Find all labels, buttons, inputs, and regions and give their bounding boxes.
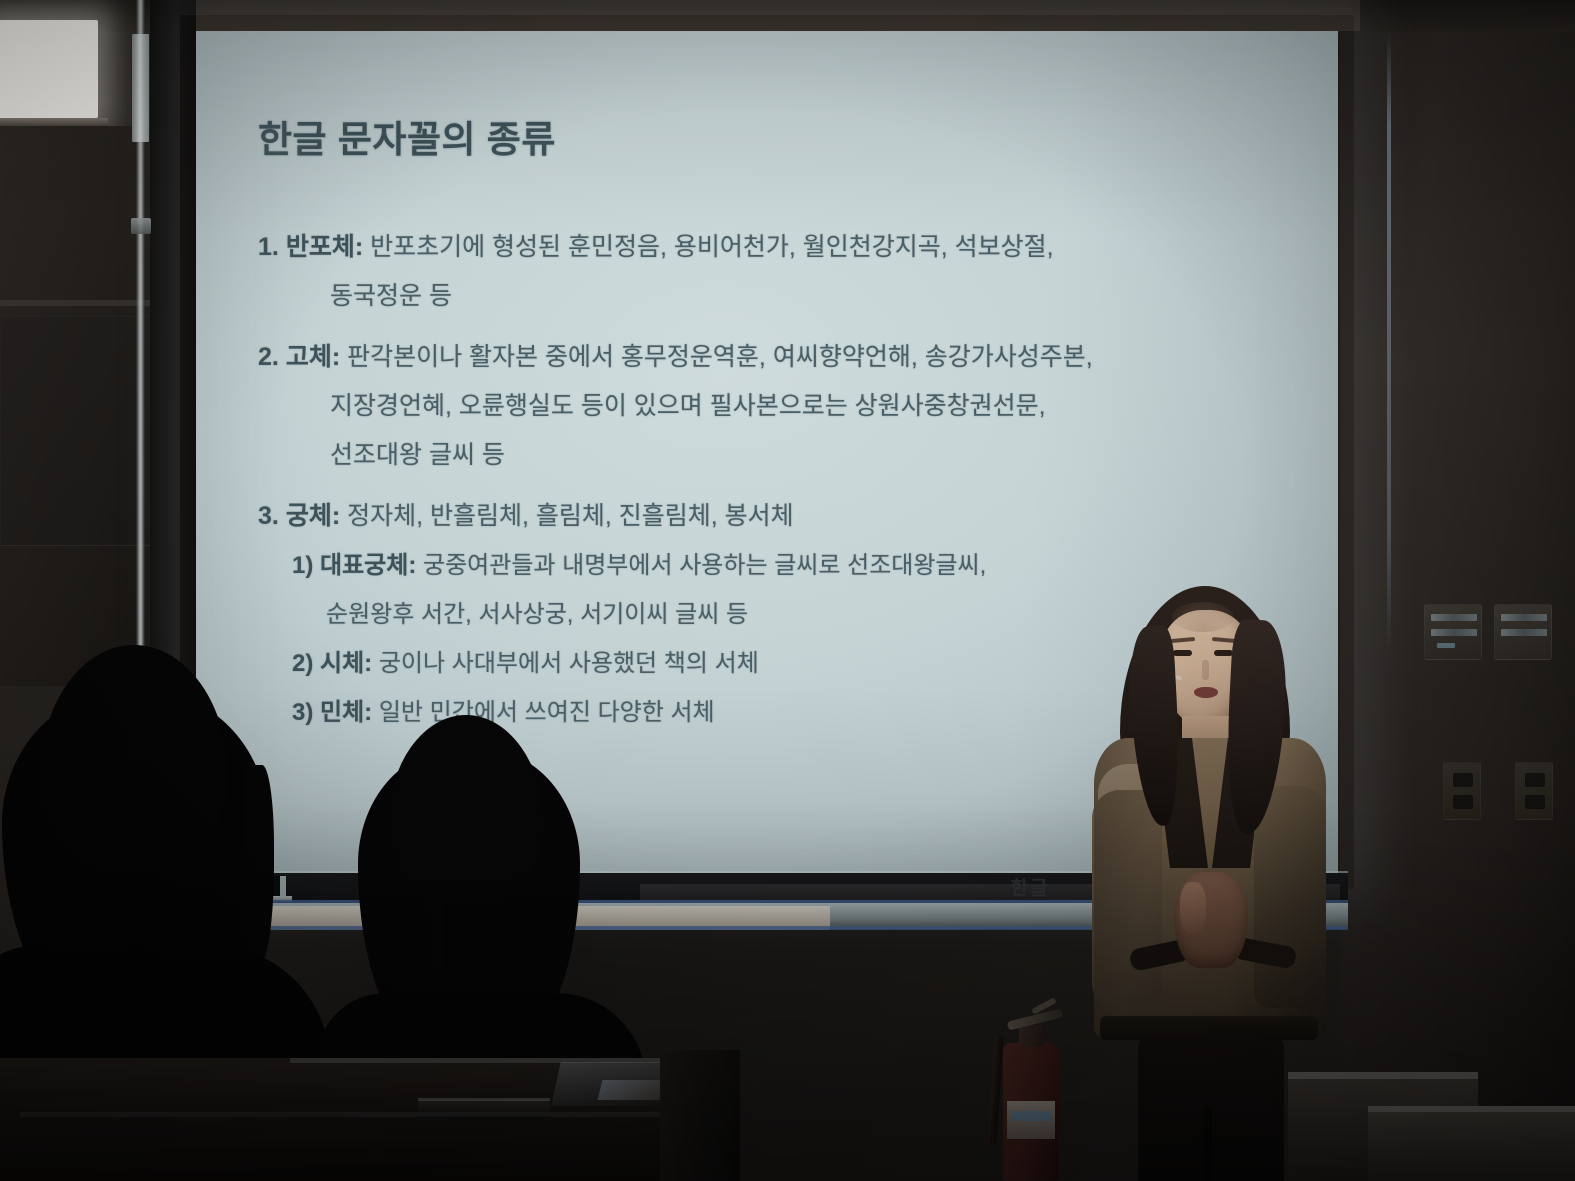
switch-indicator-1 xyxy=(1437,643,1455,648)
light-switch-plate-1[interactable] xyxy=(1424,604,1482,660)
wall-outlet-1[interactable] xyxy=(1443,762,1481,820)
slide-subitem-1-term: 대표궁체: xyxy=(320,552,416,579)
slide-subitem-1-text-1: 궁중여관들과 내명부에서 사용하는 글씨로 선조대왕글씨, xyxy=(423,552,986,579)
slide-item-2-term: 고체: xyxy=(286,343,340,371)
slide-item-1-line-2: 동국정운 등 xyxy=(258,272,1338,321)
desk-object-highlight xyxy=(418,1098,550,1101)
slide-title: 한글 문자꼴의 종류 xyxy=(258,109,1338,163)
switch-rocker-2[interactable] xyxy=(1431,629,1477,636)
slide-item-2-number: 2. xyxy=(258,343,279,371)
window-sill xyxy=(0,118,108,126)
slide-item-1-line-1: 1. 반포체: 반포초기에 형성된 훈민정음, 용비어천가, 월인천강지곡, 석… xyxy=(258,223,1338,272)
spacer-2 xyxy=(258,482,1338,492)
audience-1-head xyxy=(40,645,228,871)
presenter-mouth xyxy=(1194,687,1218,698)
audience-2-hair-strand xyxy=(426,807,442,1017)
slide-subitem-1-number: 1) xyxy=(292,552,313,579)
spacer-1 xyxy=(258,323,1338,333)
outlet-socket-2 xyxy=(1453,795,1473,809)
vertical-pole-top-segment xyxy=(132,34,149,142)
ceiling-soffit-inner xyxy=(180,0,1360,31)
presenter-eye-left xyxy=(1173,650,1192,656)
slide-item-2-line-3: 선조대왕 글씨 등 xyxy=(258,431,1338,480)
presenter-leg-separation xyxy=(1204,1106,1212,1181)
extinguisher-label-text xyxy=(1011,1111,1051,1121)
slide-item-2: 2. 고체: 판각본이나 활자본 중에서 홍무정운역훈, 여씨향약언해, 송강가… xyxy=(258,333,1338,480)
foreground-desk-front-edge xyxy=(20,1112,720,1117)
audience-1-hair-strand xyxy=(244,765,274,965)
right-edge-light-strip xyxy=(1387,32,1391,652)
switch-rocker-4[interactable] xyxy=(1501,629,1547,636)
outlet-socket-4 xyxy=(1525,795,1545,809)
switch-rocker-1[interactable] xyxy=(1431,614,1477,621)
audience-2-head xyxy=(388,715,544,905)
extinguisher-hose xyxy=(987,1035,1004,1145)
wall-outlet-2[interactable] xyxy=(1515,762,1553,820)
slide-item-1-term: 반포체: xyxy=(286,233,363,261)
slide-subitem-1-line-1: 1) 대표궁체: 궁중여관들과 내명부에서 사용하는 글씨로 선조대왕글씨, xyxy=(258,541,1338,590)
fire-extinguisher xyxy=(985,995,1077,1181)
slide-subitem-2-text-1: 궁이나 사대부에서 사용했던 책의 서체 xyxy=(379,650,759,677)
slide-item-2-line-1: 2. 고체: 판각본이나 활자본 중에서 홍무정운역훈, 여씨향약언해, 송강가… xyxy=(258,333,1338,382)
board-faint-label: 한글 xyxy=(995,876,1065,902)
outlet-socket-1 xyxy=(1453,773,1473,787)
desk-side-panel xyxy=(660,1050,740,1181)
slide-item-1-text-1: 반포초기에 형성된 훈민정음, 용비어천가, 월인천강지곡, 석보상절, xyxy=(370,233,1054,261)
slide-item-3-number: 3. xyxy=(258,502,279,530)
slide-item-1: 1. 반포체: 반포초기에 형성된 훈민정음, 용비어천가, 월인천강지곡, 석… xyxy=(258,223,1338,321)
right-desk-2-top-edge xyxy=(1368,1106,1575,1112)
switch-rocker-3[interactable] xyxy=(1501,614,1547,621)
slide-item-3-line-1: 3. 궁체: 정자체, 반흘림체, 흘림체, 진흘림체, 봉서체 xyxy=(258,492,1338,541)
extinguisher-neck xyxy=(1019,1025,1043,1047)
vertical-pole-clamp xyxy=(131,218,151,234)
presenter-figure xyxy=(1076,586,1338,1181)
right-wall-shading xyxy=(1340,0,1575,1181)
outlet-socket-3 xyxy=(1525,773,1545,787)
window-light-panel xyxy=(0,20,98,118)
slide-item-2-text-1: 판각본이나 활자본 중에서 홍무정운역훈, 여씨향약언해, 송강가사성주본, xyxy=(347,343,1093,371)
slide-item-3-term: 궁체: xyxy=(286,502,340,530)
slide-item-3-text-1: 정자체, 반흘림체, 흘림체, 진흘림체, 봉서체 xyxy=(347,502,794,530)
right-desk-2 xyxy=(1368,1106,1575,1181)
presenter-eye-right xyxy=(1214,650,1233,656)
presenter-hair-sheen xyxy=(1172,602,1234,632)
light-switch-plate-2[interactable] xyxy=(1494,604,1552,660)
presenter-nose xyxy=(1202,660,1209,680)
slide-item-2-line-2: 지장경언혜, 오륜행실도 등이 있으며 필사본으로는 상원사중창권선문, xyxy=(258,382,1338,431)
presenter-hand-highlight xyxy=(1180,882,1206,934)
slide-item-1-number: 1. xyxy=(258,233,279,261)
desk-reflection-highlight xyxy=(598,1080,669,1100)
slide-subitem-2-term: 시체: xyxy=(320,650,372,677)
lecture-room-scene: 한글 문자꼴의 종류 1. 반포체: 반포초기에 형성된 훈민정음, 용비어천가… xyxy=(0,0,1575,1181)
